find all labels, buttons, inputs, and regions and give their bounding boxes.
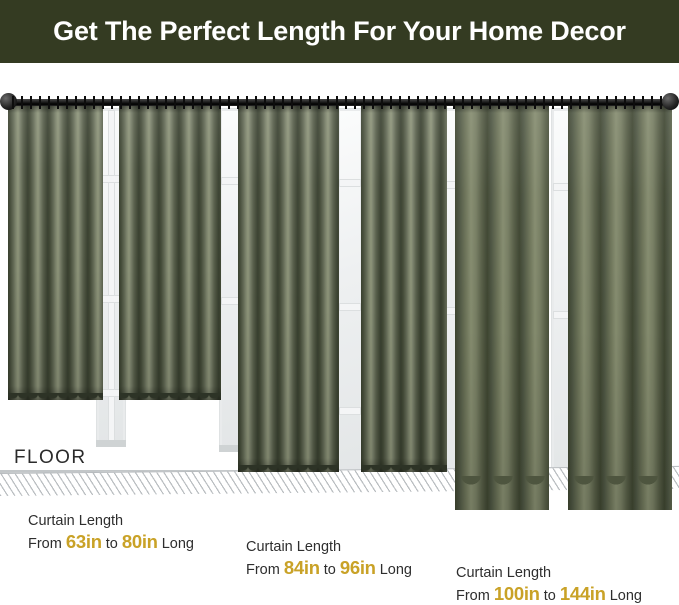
curtain-panel-long-right: [568, 104, 672, 510]
curtain-hem: [361, 465, 447, 472]
caption-max-value: 80in: [122, 531, 158, 552]
window-glass: [340, 111, 360, 475]
caption-range: From 63in to 80in Long: [28, 531, 194, 555]
caption-long-word: Long: [162, 536, 194, 552]
caption-max-value: 96in: [340, 557, 376, 578]
caption-min-value: 63in: [66, 531, 102, 552]
curtain-puddle-hem: [455, 476, 549, 510]
window-rail-3: [340, 408, 360, 414]
caption-title: Curtain Length: [456, 564, 642, 583]
curtain-hooks-row: [12, 96, 667, 109]
curtain-hem: [238, 465, 339, 472]
curtain-panel-short-left: [8, 104, 103, 400]
caption-min-value: 100in: [494, 583, 540, 604]
curtain-sheen: [119, 104, 221, 400]
curtain-puddle-hem: [568, 476, 672, 510]
caption-medium: Curtain Length From 84in to 96in Long: [246, 538, 412, 581]
curtain-hem: [8, 393, 103, 400]
window-sill-left: [96, 440, 126, 447]
caption-title: Curtain Length: [246, 538, 412, 557]
window-mid-right: [337, 108, 363, 478]
window-rail-1: [340, 180, 360, 186]
curtain-sheen: [361, 104, 447, 472]
caption-from-word: From: [456, 588, 490, 604]
curtain-hem: [119, 393, 221, 400]
floor-label: FLOOR: [14, 447, 86, 469]
caption-short: Curtain Length From 63in to 80in Long: [28, 512, 194, 555]
caption-to-word: to: [324, 562, 336, 578]
caption-max-value: 144in: [560, 583, 606, 604]
infographic-canvas: Get The Perfect Length For Your Home Dec…: [0, 0, 679, 605]
curtain-sheen: [568, 104, 672, 510]
caption-from-word: From: [246, 562, 280, 578]
caption-long-word: Long: [380, 562, 412, 578]
caption-range: From 100in to 144in Long: [456, 583, 642, 605]
curtain-panel-short-right: [119, 104, 221, 400]
curtain-panel-long-left: [455, 104, 549, 510]
caption-to-word: to: [106, 536, 118, 552]
curtain-panel-medium-left: [238, 104, 339, 472]
curtain-sheen: [8, 104, 103, 400]
curtain-sheen: [238, 104, 339, 472]
caption-title: Curtain Length: [28, 512, 194, 531]
curtain-scene: [0, 63, 679, 513]
caption-min-value: 84in: [284, 557, 320, 578]
header-banner: Get The Perfect Length For Your Home Dec…: [0, 0, 679, 63]
caption-to-word: to: [544, 588, 556, 604]
curtain-panel-medium-right: [361, 104, 447, 472]
caption-extra-long: Curtain Length From 100in to 144in Long: [456, 564, 642, 605]
banner-title: Get The Perfect Length For Your Home Dec…: [0, 0, 679, 63]
caption-long-word: Long: [610, 588, 642, 604]
window-rail-2: [340, 304, 360, 310]
curtain-sheen: [455, 104, 549, 510]
caption-from-word: From: [28, 536, 62, 552]
caption-range: From 84in to 96in Long: [246, 557, 412, 581]
